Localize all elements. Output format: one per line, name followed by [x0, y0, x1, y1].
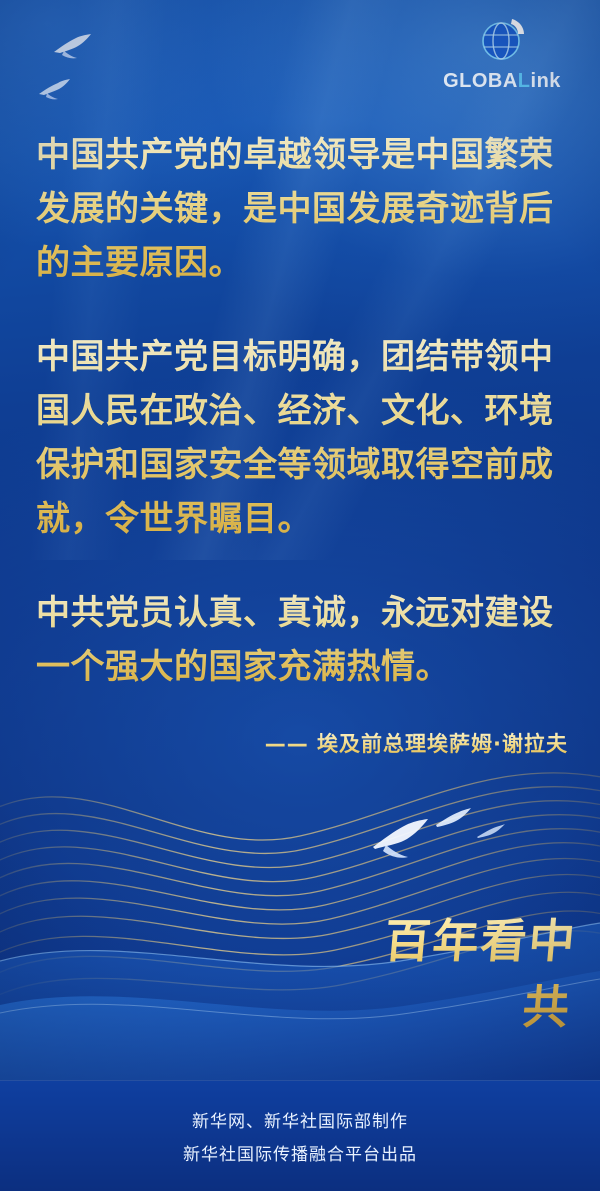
calligraphy-seal: 百年看中共 — [350, 905, 574, 979]
dove-icon — [370, 817, 430, 861]
dove-icon — [38, 78, 72, 102]
logo-text-global: GLOBA — [443, 70, 518, 92]
globalink-wordmark: GLOBALink — [432, 70, 572, 93]
dove-icon — [52, 32, 94, 62]
dove-icon — [434, 807, 472, 833]
quote-paragraph: 中国共产党目标明确，团结带领中国人民在政治、经济、文化、环境保护和国家安全等领域… — [36, 330, 570, 546]
quote-paragraph: 中国共产党的卓越领导是中国繁荣发展的关键，是中国发展奇迹背后的主要原因。 — [36, 128, 570, 290]
footer-line: 新华网、新华社国际部制作 — [192, 1107, 408, 1132]
logo-text-ink: ink — [531, 70, 561, 92]
dove-icon — [476, 823, 506, 843]
quote-block: 中国共产党的卓越领导是中国繁荣发展的关键，是中国发展奇迹背后的主要原因。 中国共… — [36, 128, 570, 694]
quote-attribution: —— 埃及前总理埃萨姆·谢拉夫 — [265, 728, 568, 758]
logo-text-l: L — [518, 70, 531, 92]
footer-line: 新华社国际传播融合平台出品 — [183, 1140, 417, 1165]
globalink-globe-mark — [479, 18, 525, 64]
quote-paragraph: 中共党员认真、真诚，永远对建设一个强大的国家充满热情。 — [36, 586, 570, 694]
poster-canvas: GLOBALink 中国共产党的卓越领导是中国繁荣发展的关键，是中国发展奇迹背后… — [0, 0, 600, 1191]
seal-text: 百年看中共 — [344, 905, 580, 1037]
globalink-logo: GLOBALink — [432, 18, 572, 93]
footer-credits: 新华网、新华社国际部制作 新华社国际传播融合平台出品 — [0, 1080, 600, 1191]
